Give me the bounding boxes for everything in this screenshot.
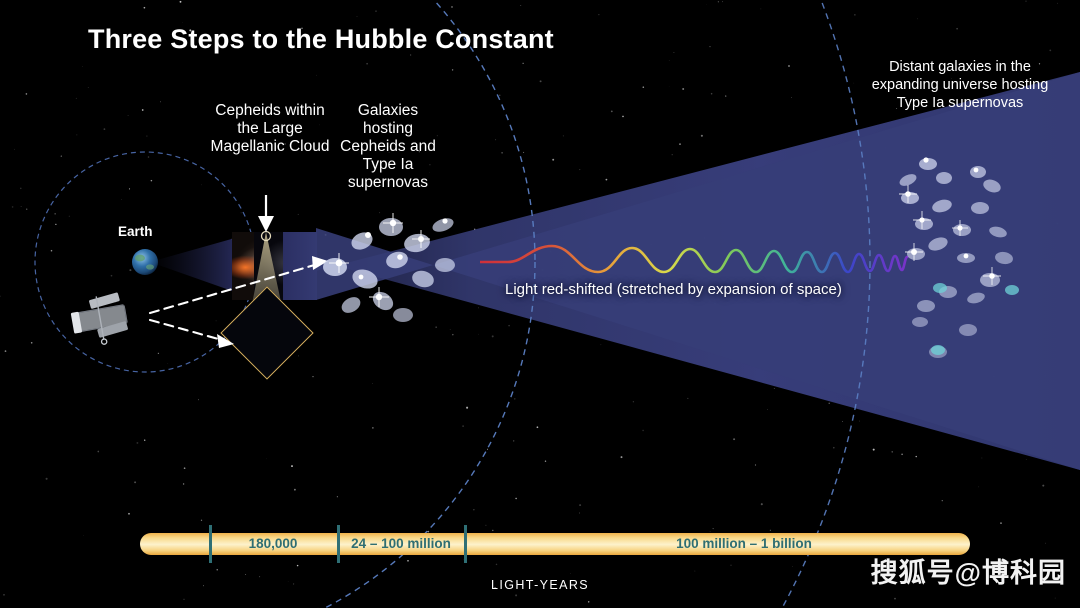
earth-label: Earth [118, 224, 153, 239]
redshift-wave [480, 232, 910, 284]
infographic-canvas: Three Steps to the Hubble Constant Earth… [0, 0, 1080, 608]
scale-segment-label-2: 24 – 100 million [281, 536, 521, 551]
step2-label: Galaxies hosting Cepheids and Type Ia su… [338, 102, 438, 192]
redshift-caption: Light red-shifted (stretched by expansio… [505, 281, 842, 298]
watermark: 搜狐号@博科园 [871, 551, 1066, 590]
page-title: Three Steps to the Hubble Constant [88, 24, 554, 55]
scale-segment-label-3: 100 million – 1 billion [624, 536, 864, 551]
distant-galaxy-cluster [880, 150, 1080, 400]
nearby-galaxy-cluster [305, 205, 495, 345]
step1-label: Cepheids within the Large Magellanic Clo… [205, 102, 335, 156]
step3-label: Distant galaxies in the expanding univer… [860, 58, 1060, 112]
